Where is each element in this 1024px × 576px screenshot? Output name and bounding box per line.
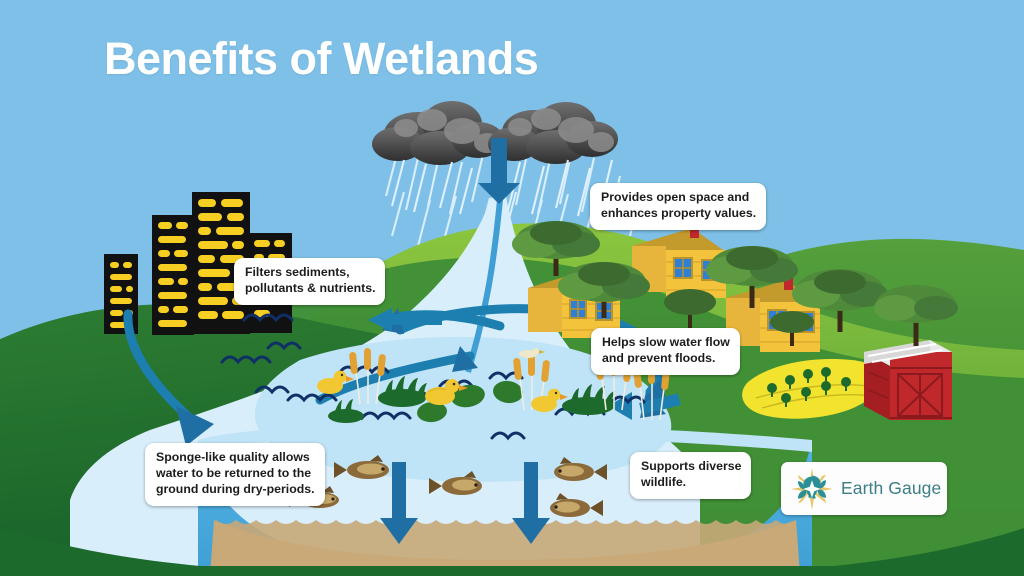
- earth-gauge-logo[interactable]: Earth Gauge: [781, 462, 947, 515]
- callout-sponge: Sponge-like quality allows water to be r…: [145, 443, 325, 506]
- callout-slow-flow: Helps slow water flow and prevent floods…: [591, 328, 740, 375]
- callout-filters: Filters sediments, pollutants & nutrient…: [234, 258, 385, 305]
- logo-label: Earth Gauge: [841, 478, 941, 499]
- page-title: Benefits of Wetlands: [104, 33, 538, 85]
- callout-open-space: Provides open space and enhances propert…: [590, 183, 766, 230]
- barn: [864, 340, 952, 420]
- compass-star-flower-icon: [790, 467, 834, 511]
- callout-wildlife: Supports diverse wildlife.: [630, 452, 751, 499]
- infographic-canvas: Benefits of Wetlands Filters sediments, …: [0, 0, 1024, 576]
